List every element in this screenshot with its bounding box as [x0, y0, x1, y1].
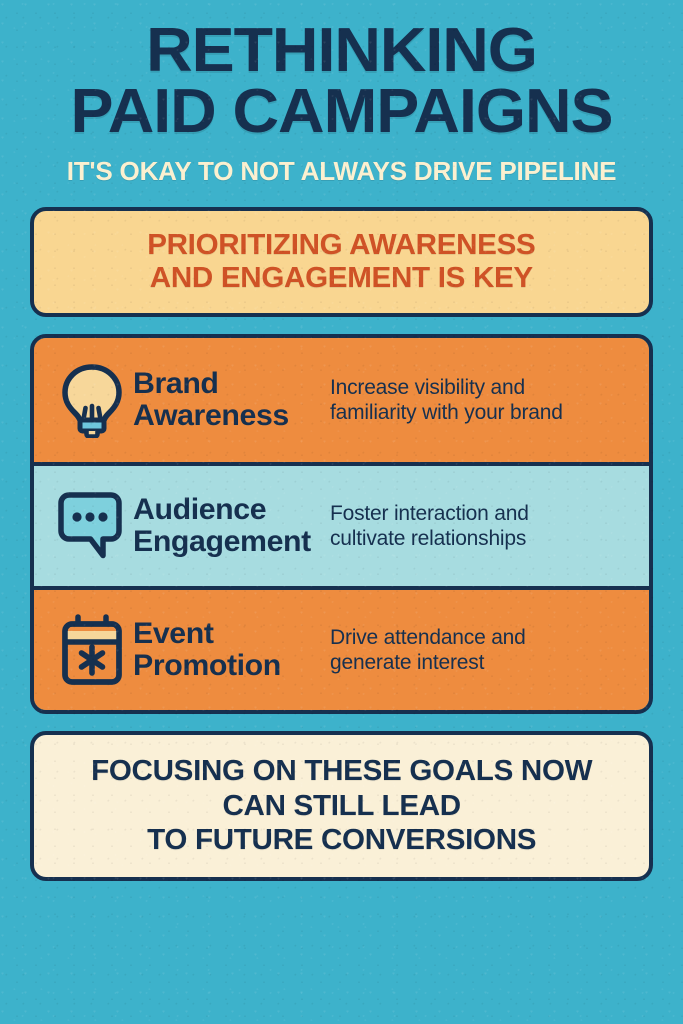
headline-line-1: RETHINKING — [18, 22, 666, 81]
lightbulb-icon — [56, 362, 128, 438]
list-item-title: Brand Awareness — [133, 368, 331, 432]
closing-message-line-3: TO FUTURE CONVERSIONS — [91, 823, 592, 857]
page-subtitle: IT'S OKAY TO NOT ALWAYS DRIVE PIPELINE — [24, 158, 659, 187]
key-message-line-1: PRIORITIZING AWARENESS — [147, 229, 535, 261]
list-item-desc-line-2: cultivate relationships — [330, 526, 631, 551]
list-item-desc-line-2: familiarity with your brand — [330, 400, 631, 425]
speech-bubble-icon — [56, 490, 128, 562]
list-item-title-line-2: Promotion — [133, 650, 331, 682]
list-item-title: Event Promotion — [133, 618, 331, 682]
list-item-title-line-1: Audience — [133, 494, 331, 526]
list-item-title: Audience Engagement — [133, 494, 331, 558]
page-title: RETHINKING PAID CAMPAIGNS — [18, 0, 666, 142]
closing-message-text: FOCUSING ON THESE GOALS NOW CAN STILL LE… — [91, 754, 592, 857]
goals-list: Brand Awareness Increase visibility and … — [30, 334, 653, 714]
list-item-title-line-1: Event — [133, 618, 331, 650]
calendar-icon — [56, 614, 128, 686]
closing-message-line-1: FOCUSING ON THESE GOALS NOW — [91, 754, 592, 788]
key-message-box: PRIORITIZING AWARENESS AND ENGAGEMENT IS… — [30, 207, 653, 317]
list-item: Audience Engagement Foster interaction a… — [34, 462, 649, 586]
list-item-title-line-2: Awareness — [133, 400, 331, 432]
list-item-desc-line-2: generate interest — [330, 650, 631, 675]
list-item-title-line-1: Brand — [133, 368, 331, 400]
list-item-desc-line-1: Increase visibility and — [330, 375, 631, 400]
infographic-poster: RETHINKING PAID CAMPAIGNS IT'S OKAY TO N… — [0, 0, 683, 1024]
list-item-description: Increase visibility and familiarity with… — [330, 375, 631, 425]
list-item-desc-line-1: Foster interaction and — [330, 501, 631, 526]
closing-message-box: FOCUSING ON THESE GOALS NOW CAN STILL LE… — [30, 731, 653, 881]
list-item-description: Foster interaction and cultivate relatio… — [330, 501, 631, 551]
list-item-desc-line-1: Drive attendance and — [330, 625, 631, 650]
list-item: Event Promotion Drive attendance and gen… — [34, 586, 649, 710]
key-message-line-2: AND ENGAGEMENT IS KEY — [147, 262, 535, 294]
headline-line-2: PAID CAMPAIGNS — [18, 83, 666, 142]
closing-message-line-2: CAN STILL LEAD — [91, 789, 592, 823]
list-item: Brand Awareness Increase visibility and … — [34, 338, 649, 462]
list-item-title-line-2: Engagement — [133, 526, 331, 558]
list-item-description: Drive attendance and generate interest — [330, 625, 631, 675]
key-message-text: PRIORITIZING AWARENESS AND ENGAGEMENT IS… — [147, 229, 535, 294]
